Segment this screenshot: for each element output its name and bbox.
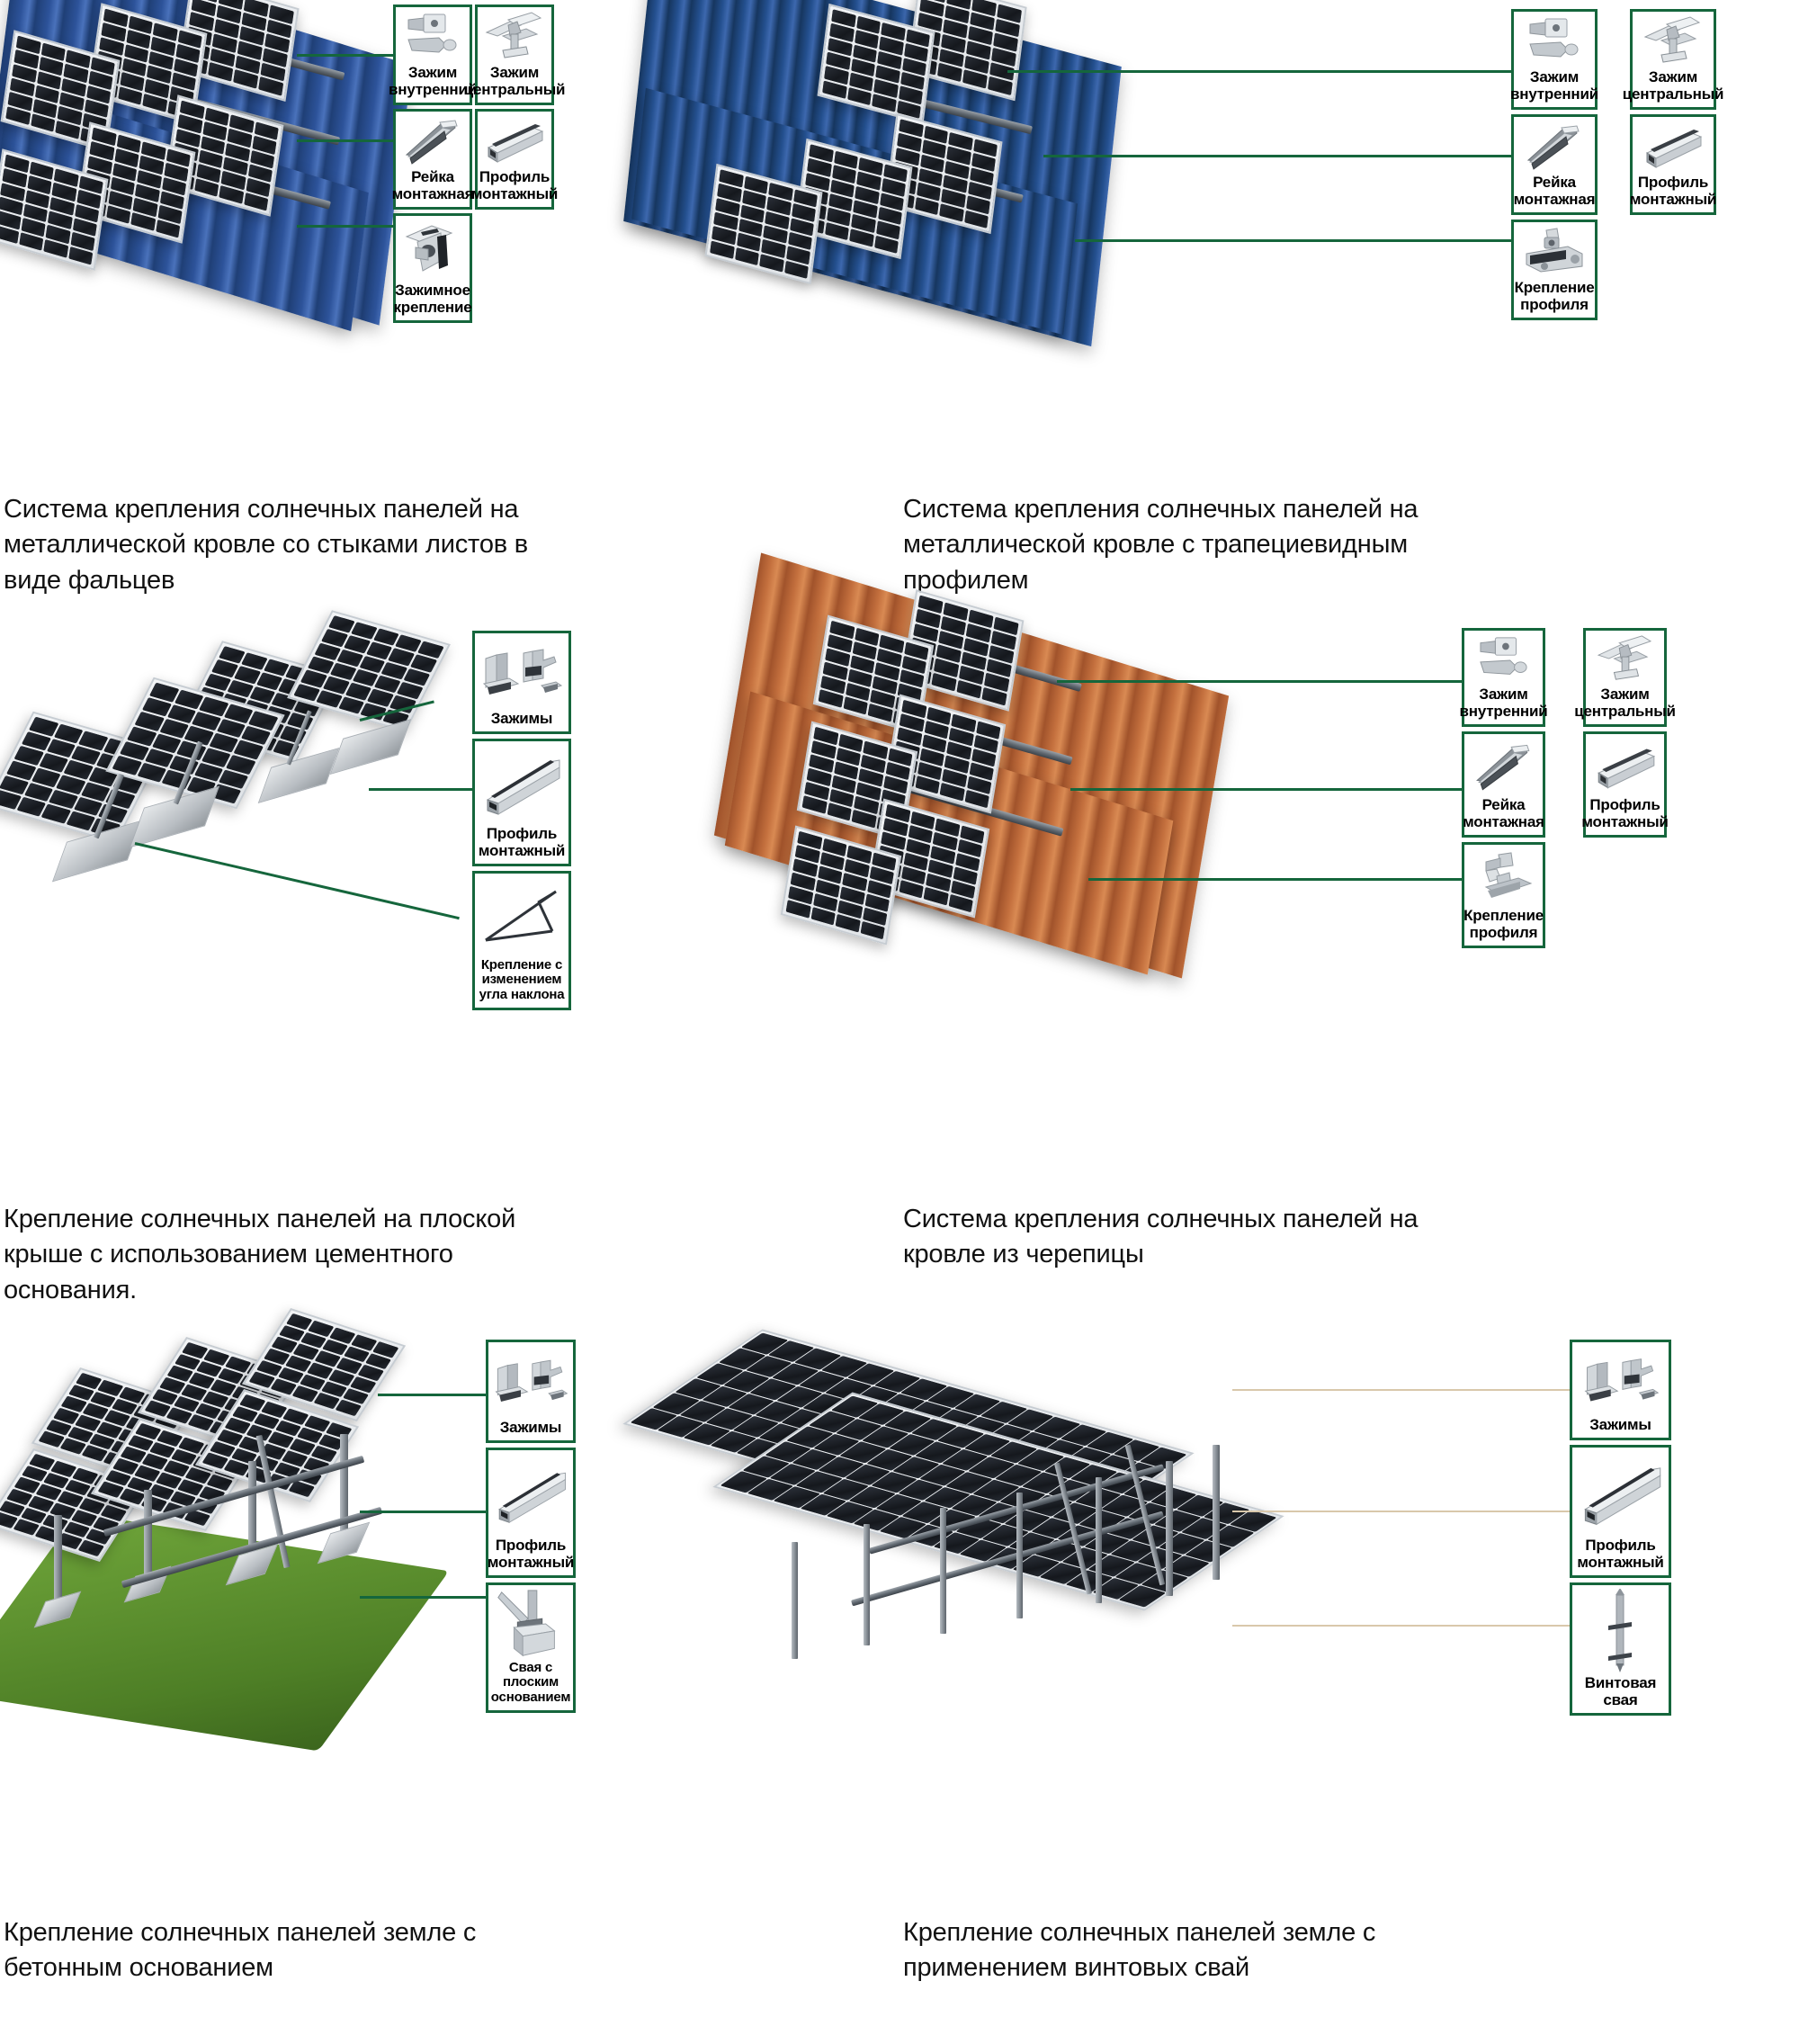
legend-label: Зажимное крепление bbox=[393, 282, 471, 316]
legend-item-mount-profile[interactable]: Профиль монтажный bbox=[475, 109, 554, 210]
legend-item-tilt-bracket[interactable]: Крепление с изменением угла наклона bbox=[472, 871, 571, 1010]
screw-pile bbox=[864, 1524, 870, 1645]
mounting-profile-icon bbox=[491, 1454, 570, 1537]
legend-label: Профиль монтажный bbox=[1577, 1537, 1663, 1571]
legend-label: Зажимы bbox=[491, 710, 553, 727]
cement-ballast-block bbox=[130, 786, 219, 848]
inner-clamp-icon bbox=[1517, 15, 1592, 68]
mounting-profile-icon bbox=[480, 115, 549, 168]
clamps-icon bbox=[491, 1346, 570, 1419]
panel-trapezoidal-metal-roof: Зажим внутренний Зажим центральный bbox=[899, 0, 1799, 608]
leader-line bbox=[297, 54, 398, 57]
legend-item-screw-pile[interactable]: Винтовая свая bbox=[1570, 1582, 1671, 1716]
systems-grid: Зажим внутренний Зажим центральный bbox=[0, 0, 1799, 2044]
panel-caption: Крепление солнечных панелей на плоской к… bbox=[4, 1202, 561, 1308]
legend-label: Профиль монтажный bbox=[479, 825, 565, 859]
mounting-profile-icon bbox=[1575, 1451, 1666, 1537]
legend-item-clamp-inner[interactable]: Зажим внутренний bbox=[1511, 9, 1598, 110]
legend-label: Профиль монтажный bbox=[471, 168, 558, 202]
legend-label: Зажим центральный bbox=[1574, 686, 1676, 720]
screw-pile bbox=[792, 1542, 798, 1659]
support-post bbox=[144, 1490, 152, 1584]
legend-label: Профиль монтажный bbox=[1630, 174, 1716, 208]
panel-caption: Система крепления солнечных панелей на к… bbox=[903, 1202, 1461, 1273]
panel-caption: Система крепления солнечных панелей на м… bbox=[4, 492, 561, 598]
legend-item-clamp-central[interactable]: Зажим центральный bbox=[1583, 628, 1667, 727]
figure-trapezoidal-metal-roof: Зажим внутренний Зажим центральный bbox=[899, 0, 1799, 450]
leader-line bbox=[369, 788, 477, 791]
panel-tile-roof: Зажим внутренний Зажим центральный bbox=[899, 608, 1799, 1335]
legend-label: Зажим центральный bbox=[1623, 68, 1724, 103]
legend-item-mount-profile[interactable]: Профиль монтажный bbox=[1583, 731, 1667, 838]
legend-label: Зажим внутренний bbox=[1510, 68, 1598, 103]
legend-item-mount-rail[interactable]: Рейка монтажная bbox=[1462, 731, 1545, 838]
legend-label: Винтовая свая bbox=[1575, 1674, 1666, 1708]
legend-label: Зажим внутренний bbox=[1460, 686, 1548, 720]
inner-clamp-icon bbox=[398, 11, 467, 64]
legend-label: Крепление профиля bbox=[1515, 279, 1595, 313]
central-clamp-icon bbox=[1635, 15, 1711, 68]
panel-ground-screw-piles: Зажимы Профиль монтажный bbox=[899, 1335, 1799, 2044]
legend-item-profile-bracket[interactable]: Крепление профиля bbox=[1462, 842, 1545, 948]
leader-line bbox=[1043, 155, 1511, 157]
legend-item-mount-profile[interactable]: Профиль монтажный bbox=[472, 739, 571, 866]
screw-pile-icon bbox=[1575, 1589, 1666, 1674]
mounting-rail-icon bbox=[398, 115, 467, 168]
legend-item-clamp-central[interactable]: Зажим центральный bbox=[475, 4, 554, 105]
legend-item-mount-rail[interactable]: Рейка монтажная bbox=[1511, 114, 1598, 215]
legend-item-mount-rail[interactable]: Рейка монтажная bbox=[393, 109, 472, 210]
screw-pile bbox=[1213, 1445, 1220, 1580]
cement-ballast-block bbox=[330, 719, 412, 775]
legend-item-clamps[interactable]: Зажимы bbox=[486, 1340, 576, 1443]
legend-item-clamps[interactable]: Зажимы bbox=[472, 631, 571, 734]
legend-item-mount-profile[interactable]: Профиль монтажный bbox=[1630, 114, 1716, 215]
legend-item-clamps[interactable]: Зажимы bbox=[1570, 1340, 1671, 1440]
screw-pile bbox=[940, 1508, 946, 1634]
screw-pile bbox=[1096, 1477, 1102, 1603]
legend-item-profile-bracket[interactable]: Крепление профиля bbox=[1511, 220, 1598, 320]
legend-label: Профиль монтажный bbox=[1581, 796, 1668, 830]
panel-caption: Крепление солнечных панелей земле с прим… bbox=[903, 1915, 1479, 1986]
leader-line bbox=[297, 225, 398, 228]
panel-caption: Система крепления солнечных панелей на м… bbox=[903, 492, 1488, 598]
legend-label: Крепление с изменением угла наклона bbox=[479, 958, 565, 1003]
leader-line bbox=[1232, 1389, 1570, 1391]
legend-label: Зажим центральный bbox=[464, 64, 566, 98]
leader-line bbox=[1232, 1625, 1570, 1627]
figure-ground-screw-piles: Зажимы Профиль монтажный bbox=[899, 1335, 1799, 1893]
profile-bracket-icon bbox=[1517, 226, 1592, 279]
legend-label: Рейка монтажная bbox=[1463, 796, 1544, 830]
legend-item-clamp-central[interactable]: Зажим центральный bbox=[1630, 9, 1716, 110]
legend-item-clamp-inner[interactable]: Зажим внутренний bbox=[1462, 628, 1545, 727]
leader-line bbox=[378, 1394, 486, 1396]
central-clamp-icon bbox=[1589, 634, 1661, 686]
tile-hook-icon bbox=[1467, 848, 1540, 907]
central-clamp-icon bbox=[480, 11, 549, 64]
legend-item-flat-pile[interactable]: Свая с плоским основанием bbox=[486, 1582, 576, 1713]
support-post bbox=[54, 1515, 62, 1609]
legend-label: Крепление профиля bbox=[1463, 907, 1544, 941]
leader-line bbox=[1007, 70, 1516, 73]
mounting-rail-icon bbox=[1517, 121, 1592, 174]
mounting-profile-icon bbox=[478, 745, 566, 825]
leader-line bbox=[1232, 1511, 1570, 1512]
screw-pile bbox=[1016, 1493, 1023, 1618]
screw-pile bbox=[1166, 1461, 1173, 1596]
flat-base-pile-icon bbox=[491, 1589, 570, 1661]
leader-line bbox=[297, 139, 398, 142]
leader-line bbox=[1088, 878, 1466, 881]
leader-line bbox=[360, 1511, 486, 1513]
legend-item-mount-profile[interactable]: Профиль монтажный bbox=[486, 1448, 576, 1578]
legend-label: Рейка монтажная bbox=[1514, 174, 1596, 208]
leader-line bbox=[1075, 239, 1511, 242]
legend-label: Профиль монтажный bbox=[488, 1537, 574, 1571]
leader-line bbox=[1057, 680, 1466, 683]
mounting-profile-icon bbox=[1589, 738, 1661, 796]
clamps-icon bbox=[1575, 1346, 1666, 1416]
inner-clamp-icon bbox=[1467, 634, 1540, 686]
legend-item-clamp-inner[interactable]: Зажим внутренний bbox=[393, 4, 472, 105]
legend-label: Зажимы bbox=[500, 1419, 562, 1436]
seam-clamp-icon bbox=[398, 220, 467, 282]
mounting-profile-icon bbox=[1635, 121, 1711, 174]
leader-line bbox=[1070, 788, 1466, 791]
legend-label: Рейка монтажная bbox=[392, 168, 474, 202]
clamps-icon bbox=[478, 637, 566, 710]
leader-line bbox=[360, 1596, 486, 1599]
tilt-bracket-icon bbox=[478, 877, 566, 958]
legend-item-mount-profile[interactable]: Профиль монтажный bbox=[1570, 1445, 1671, 1578]
panel-caption: Крепление солнечных панелей земле с бето… bbox=[4, 1915, 579, 1986]
figure-tile-roof: Зажим внутренний Зажим центральный bbox=[899, 608, 1799, 1166]
legend-item-clamp-mount[interactable]: Зажимное крепление bbox=[393, 213, 472, 323]
legend-label: Свая с плоским основанием bbox=[491, 1661, 570, 1706]
mounting-rail-icon bbox=[1467, 738, 1540, 796]
leader-line bbox=[135, 842, 460, 919]
legend-label: Зажимы bbox=[1589, 1416, 1651, 1433]
